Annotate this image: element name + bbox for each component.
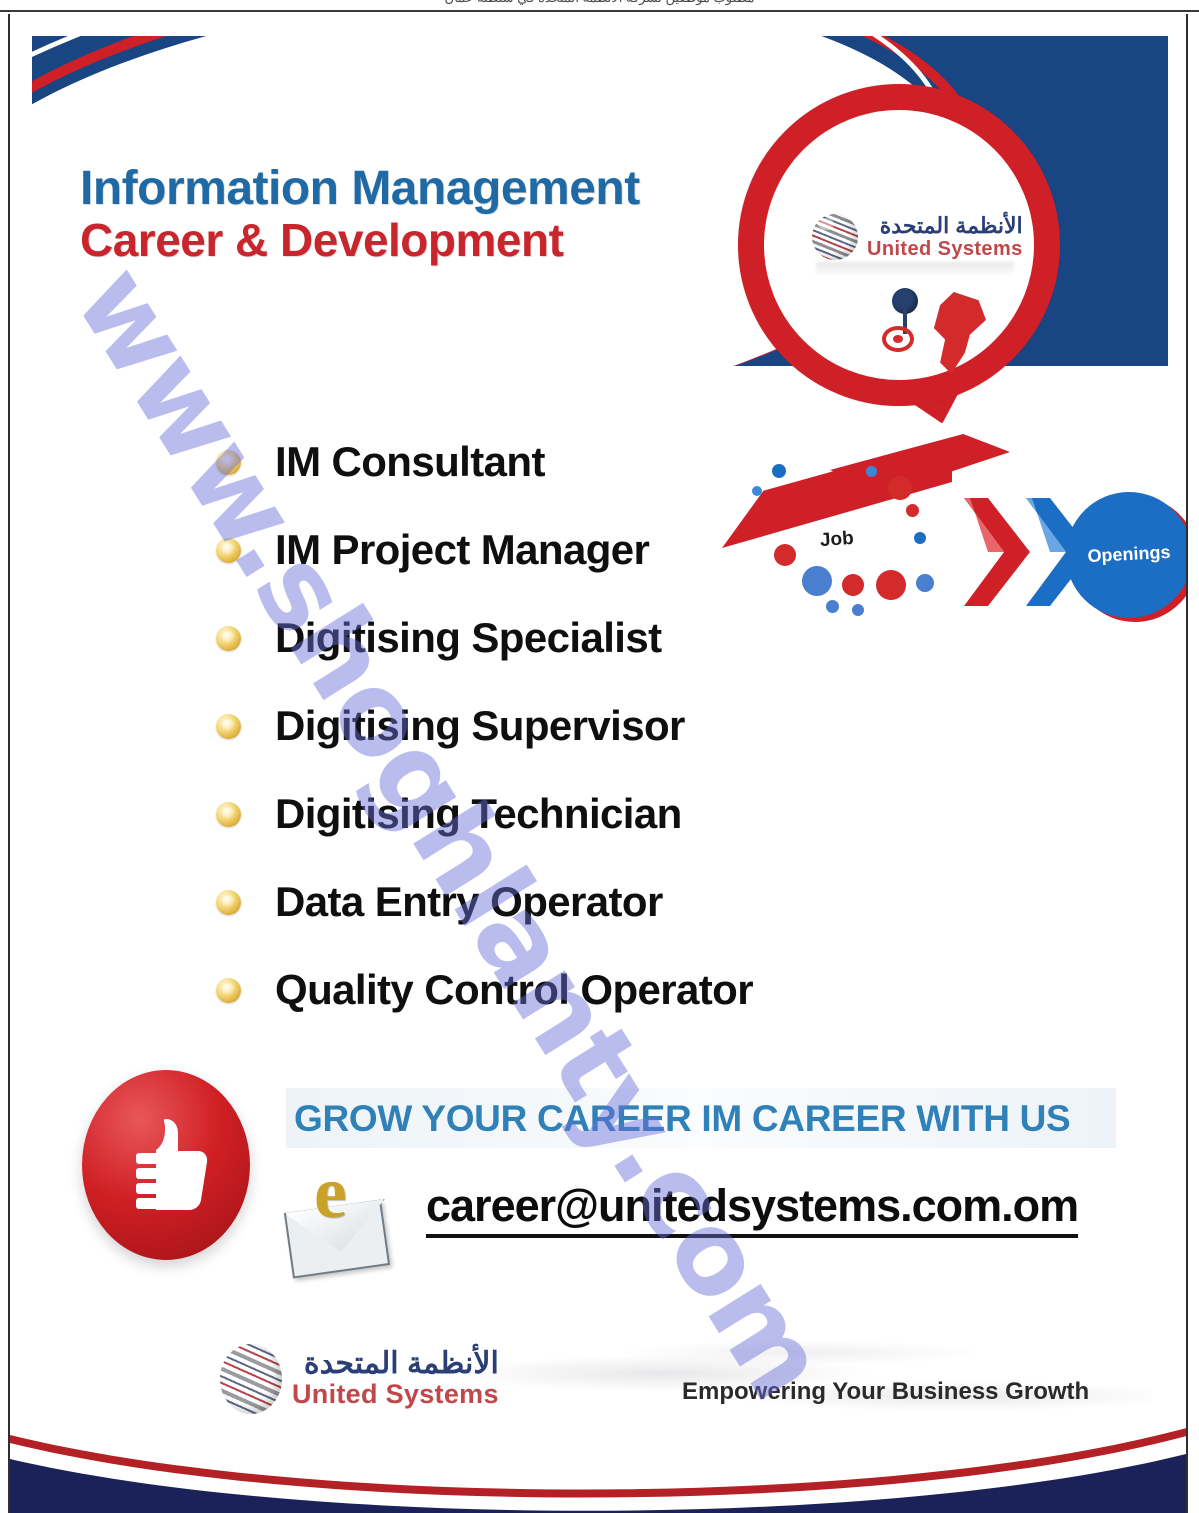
- career-email-address: career@unitedsystems.com.om: [426, 1180, 1078, 1238]
- call-to-action-section: GROW YOUR CAREER IM CAREER WITH US e car…: [76, 1062, 1136, 1282]
- decor-dot: [842, 574, 864, 596]
- job-title: Digitising Specialist: [275, 614, 661, 662]
- cta-headline: GROW YOUR CAREER IM CAREER WITH US: [294, 1098, 1070, 1140]
- footer-company-name-arabic: الأنظمة المتحدة: [292, 1349, 499, 1380]
- job-title: Digitising Supervisor: [275, 702, 685, 750]
- poster-title: Information Management Career & Developm…: [80, 164, 840, 266]
- job-title: IM Project Manager: [275, 526, 649, 574]
- company-name-english: United Systems: [867, 239, 1023, 259]
- decor-dot: [752, 486, 762, 496]
- decor-dot: [866, 466, 877, 477]
- openings-label: Openings: [1066, 541, 1188, 569]
- page-top-rule: [0, 10, 1199, 12]
- decor-dot: [774, 544, 796, 566]
- logo-reflection: [816, 262, 1014, 276]
- clipped-top-text: مطلوب موظفين لشركة الأنظمة المتحدة في سل…: [0, 0, 1199, 9]
- globe-icon: [812, 214, 858, 260]
- poster-page: مطلوب موظفين لشركة الأنظمة المتحدة في سل…: [0, 0, 1199, 1513]
- location-pin-base: [882, 326, 914, 352]
- title-line-1: Information Management: [80, 164, 840, 214]
- job-word-label: Job: [819, 528, 854, 552]
- decor-dot: [802, 566, 832, 596]
- footer-tagline: Empowering Your Business Growth: [682, 1378, 1089, 1406]
- company-logo: الأنظمة المتحدة United Systems: [812, 214, 1023, 260]
- decor-dot: [914, 532, 926, 544]
- gold-bullet-icon: [216, 626, 241, 651]
- decor-dot: [772, 464, 786, 478]
- globe-icon: [220, 1344, 282, 1414]
- job-title: Data Entry Operator: [275, 878, 663, 926]
- job-title: IM Consultant: [275, 438, 545, 486]
- decor-dot: [852, 604, 864, 616]
- company-name-arabic: الأنظمة المتحدة: [867, 215, 1023, 237]
- email-envelope-icon: e: [284, 1158, 394, 1276]
- gold-bullet-icon: [216, 538, 241, 563]
- decor-dot: [826, 600, 839, 613]
- clipped-top-text-label: مطلوب موظفين لشركة الأنظمة المتحدة في سل…: [445, 0, 755, 5]
- list-item: Data Entry Operator: [216, 858, 836, 946]
- footer-company-logo: الأنظمة المتحدة United Systems: [220, 1344, 499, 1414]
- magnifier-glass-icon: الأنظمة المتحدة United Systems: [738, 84, 1060, 406]
- footer-curve-decoration: [10, 1413, 1188, 1513]
- list-item: Quality Control Operator: [216, 946, 836, 1034]
- list-item: Digitising Technician: [216, 770, 836, 858]
- gold-bullet-icon: [216, 450, 241, 475]
- footer-company-name-english: United Systems: [292, 1381, 499, 1409]
- email-e-glyph: e: [314, 1156, 347, 1230]
- decor-dot: [916, 574, 934, 592]
- oman-map-icon: [924, 292, 986, 374]
- job-title: Quality Control Operator: [275, 966, 753, 1014]
- gold-bullet-icon: [216, 890, 241, 915]
- job-title: Digitising Technician: [275, 790, 682, 838]
- openings-circle: Openings: [1066, 492, 1188, 618]
- thumbs-up-icon: [82, 1070, 250, 1260]
- gold-bullet-icon: [216, 978, 241, 1003]
- gold-bullet-icon: [216, 714, 241, 739]
- decor-dot: [906, 504, 919, 517]
- job-openings-graphic: Job Openings: [710, 434, 1180, 704]
- gold-bullet-icon: [216, 802, 241, 827]
- decor-dot: [888, 476, 912, 500]
- title-line-2: Career & Development: [80, 216, 840, 266]
- decor-dot: [876, 570, 906, 600]
- job-advertisement-poster: Information Management Career & Developm…: [8, 14, 1188, 1513]
